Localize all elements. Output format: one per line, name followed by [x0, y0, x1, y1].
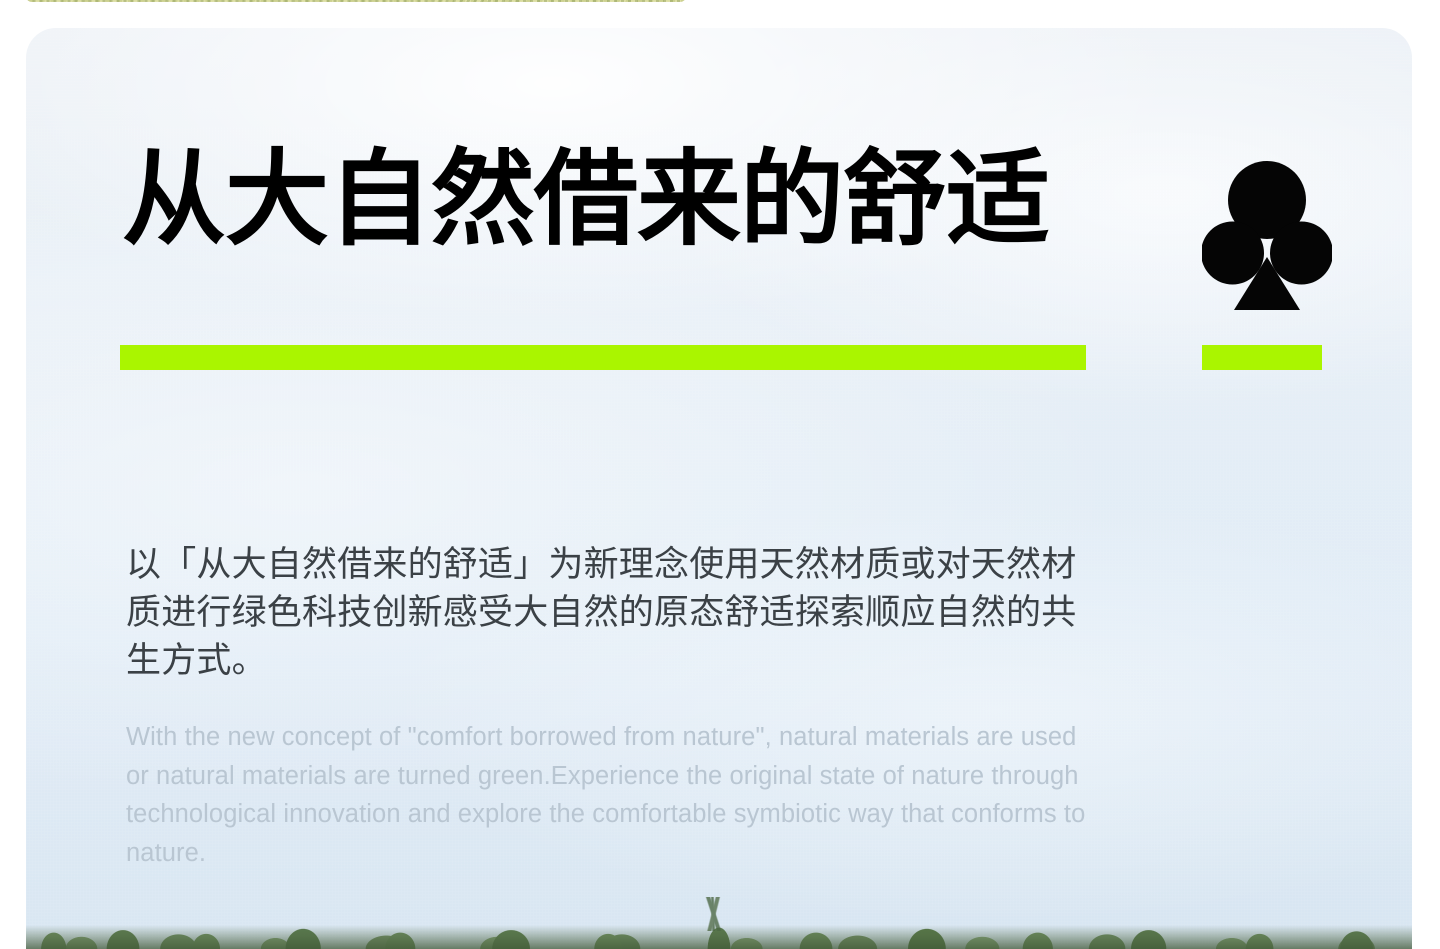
card-content: 从大自然借来的舒适 以「从大自然借来的舒适」为新理念使用天然材质或对天然材质进行…	[26, 28, 1412, 949]
body-text-english: With the new concept of "comfort borrowe…	[126, 718, 1101, 872]
previous-card-sliver	[26, 0, 686, 2]
body-text-chinese: 以「从大自然借来的舒适」为新理念使用天然材质或对天然材质进行绿色科技创新感受大自…	[126, 541, 1106, 685]
club-clover-icon	[1202, 160, 1332, 330]
hero-card: 从大自然借来的舒适 以「从大自然借来的舒适」为新理念使用天然材质或对天然材质进行…	[26, 28, 1412, 949]
accent-bar-small	[1202, 345, 1322, 370]
accent-bar	[120, 345, 1086, 370]
page-title: 从大自然借来的舒适	[122, 144, 1049, 256]
headline-row: 从大自然借来的舒适	[122, 144, 1342, 256]
